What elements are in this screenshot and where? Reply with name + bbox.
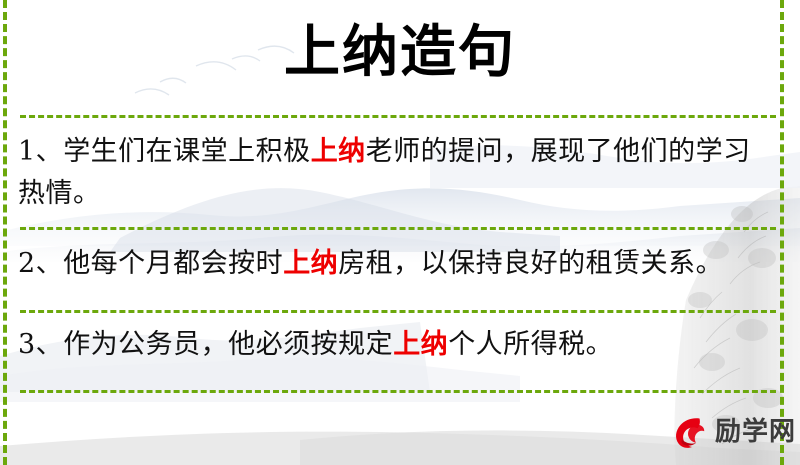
divider-below-title	[20, 115, 776, 118]
sentence-example-page: 上纳造句 1、学生们在课堂上积极上纳老师的提问，展现了他们的学习热情。 2、他每…	[0, 0, 800, 465]
red-swirl-flame-icon	[668, 412, 708, 452]
sentence-index-3: 3、	[18, 329, 63, 360]
site-watermark-logo: 励学网	[668, 412, 796, 452]
divider-after-sentence-3	[20, 390, 776, 393]
sentence-index-1: 1、	[18, 136, 63, 167]
sentence-text-after-3: 个人所得税。	[448, 329, 613, 360]
sentence-item-3: 3、作为公务员，他必须按规定上纳个人所得税。	[18, 324, 770, 366]
keyword-highlight-3: 上纳	[393, 329, 448, 360]
sentence-item-1: 1、学生们在课堂上积极上纳老师的提问，展现了他们的学习热情。	[18, 131, 770, 215]
keyword-highlight-2: 上纳	[283, 248, 338, 279]
sentence-text-before-2: 他每个月都会按时	[63, 248, 283, 279]
sentence-text-before-3: 作为公务员，他必须按规定	[63, 329, 393, 360]
divider-after-sentence-2	[20, 310, 776, 313]
sentence-text-after-2: 房租，以保持良好的租赁关系。	[338, 248, 723, 279]
sentence-item-2: 2、他每个月都会按时上纳房租，以保持良好的租赁关系。	[18, 243, 770, 285]
sentence-index-2: 2、	[18, 248, 63, 279]
keyword-highlight-1: 上纳	[311, 136, 366, 167]
page-title: 上纳造句	[0, 20, 800, 84]
divider-after-sentence-1	[20, 227, 776, 230]
site-brand-name: 励学网	[715, 418, 796, 446]
sentence-text-before-1: 学生们在课堂上积极	[63, 136, 311, 167]
